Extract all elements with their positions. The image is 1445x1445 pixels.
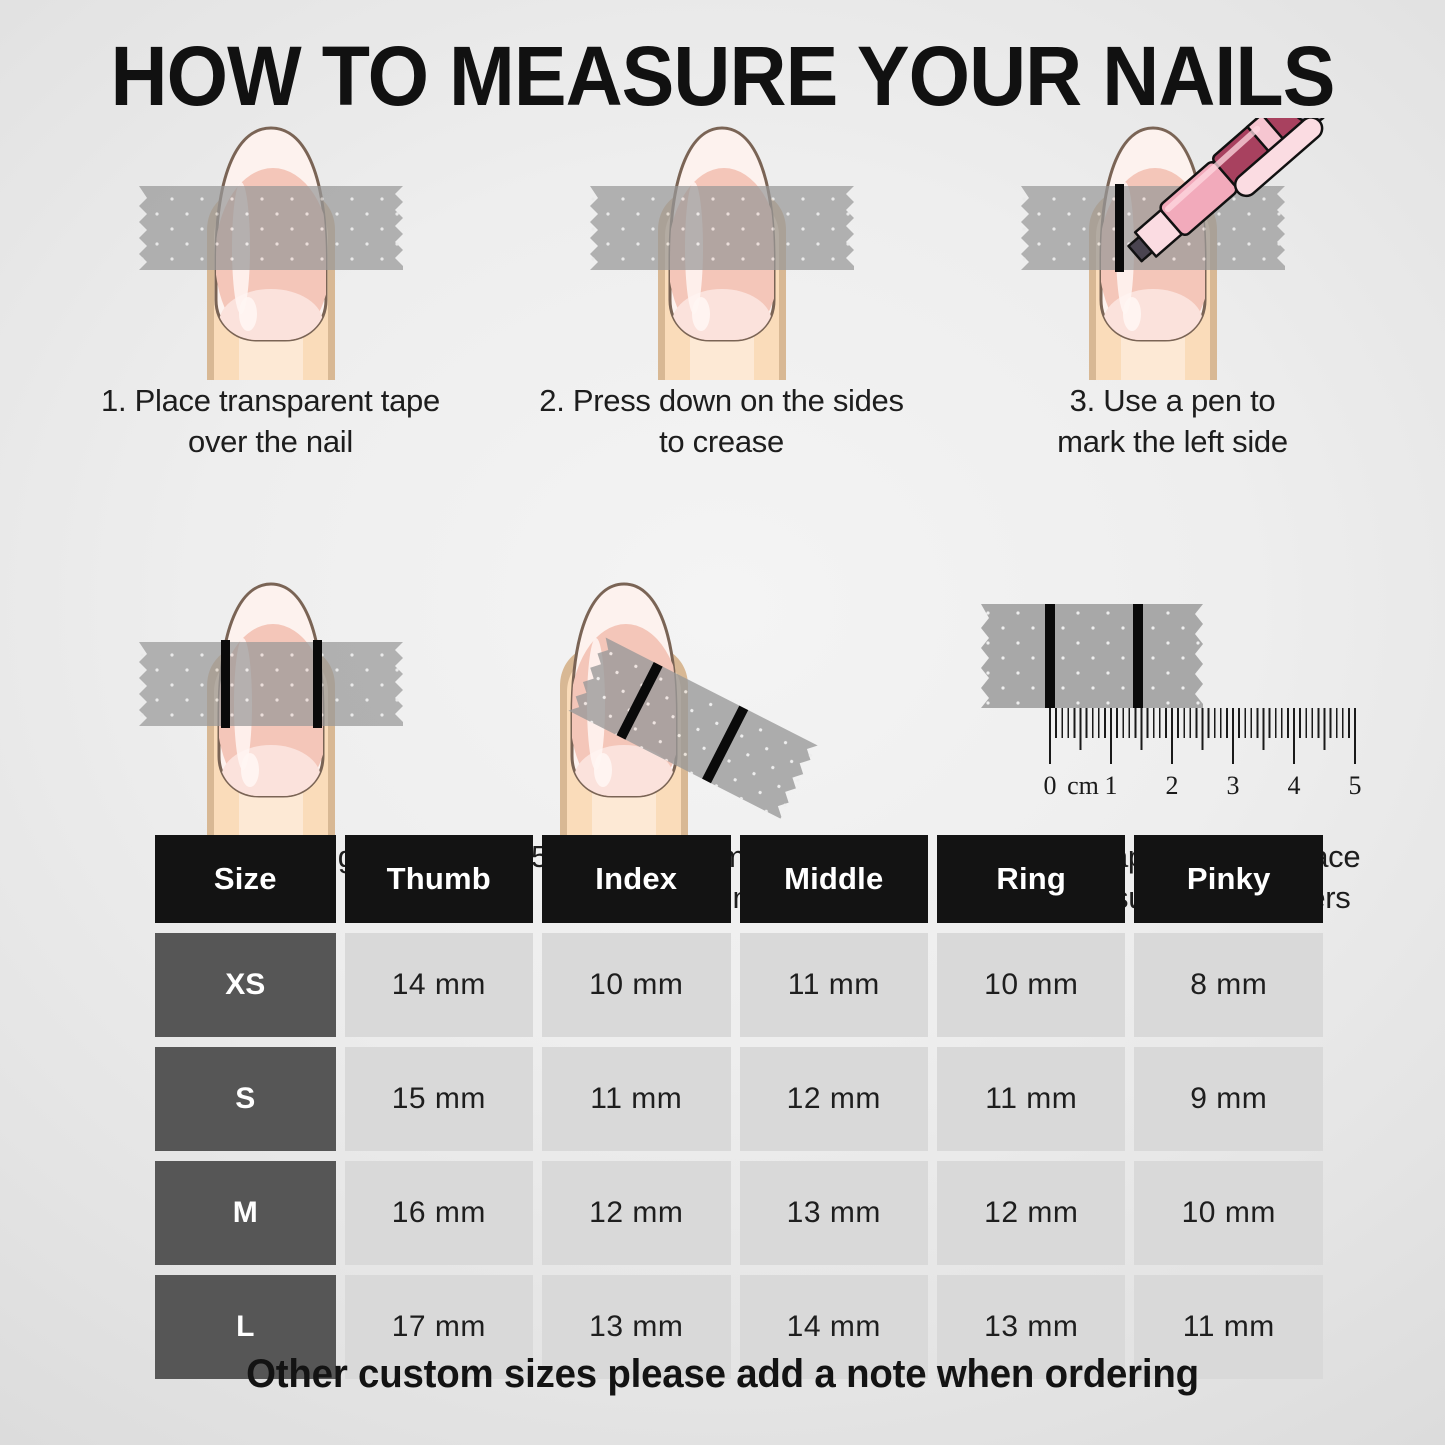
transparent-tape xyxy=(590,186,854,270)
step-2-figure xyxy=(496,118,947,380)
step-2-caption-line1: 2. Press down on the sides xyxy=(508,380,935,421)
table-row: XS 14 mm 10 mm 11 mm 10 mm 8 mm xyxy=(155,933,1323,1037)
cell-s-pinky: 9 mm xyxy=(1134,1047,1322,1151)
steps-section: 1. Place transparent tape over the nail xyxy=(45,118,1400,918)
finger-tape-peeled-illustration xyxy=(504,574,884,836)
step-1-caption: 1. Place transparent tape over the nail xyxy=(45,380,496,462)
size-chart-table: Size Thumb Index Middle Ring Pinky XS 14… xyxy=(155,835,1323,1389)
table-header-index: Index xyxy=(542,835,730,923)
tape-mark-left xyxy=(1045,604,1055,708)
cell-xs-ring: 10 mm xyxy=(937,933,1125,1037)
footer-note: Other custom sizes please add a note whe… xyxy=(29,1352,1416,1397)
table-header-thumb: Thumb xyxy=(345,835,533,923)
table-header-pinky: Pinky xyxy=(1134,835,1322,923)
step-1-caption-line1: 1. Place transparent tape xyxy=(57,380,484,421)
step-3-figure xyxy=(947,118,1398,380)
cell-m-ring: 12 mm xyxy=(937,1161,1125,1265)
ruler-tick-3: 3 xyxy=(1226,771,1239,800)
pen-mark-left xyxy=(221,640,230,728)
ruler-tick-0: 0 xyxy=(1043,771,1056,800)
cell-s-middle: 12 mm xyxy=(740,1047,928,1151)
step-6-figure: 0 cm 1 2 3 4 5 xyxy=(947,574,1398,836)
measured-tape xyxy=(981,604,1203,708)
finger-tape-creased-illustration xyxy=(572,118,872,380)
transparent-tape xyxy=(139,186,403,270)
cell-m-middle: 13 mm xyxy=(740,1161,928,1265)
ruler-tick-1: 1 xyxy=(1104,771,1117,800)
step-5-figure xyxy=(496,574,947,836)
step-4-figure xyxy=(45,574,496,836)
cell-xs-pinky: 8 mm xyxy=(1134,933,1322,1037)
ruler-tick-4: 4 xyxy=(1287,771,1300,800)
nail-highlight-dot xyxy=(241,753,259,787)
ruler-labels: 0 cm 1 2 3 4 5 xyxy=(1043,771,1361,800)
step-3: 3. Use a pen to mark the left side xyxy=(947,118,1398,462)
cell-s-ring: 11 mm xyxy=(937,1047,1125,1151)
step-3-caption-line2: mark the left side xyxy=(959,421,1386,462)
finger-tape-two-marks-illustration xyxy=(121,574,421,836)
finger-tape-pen-illustration xyxy=(1003,118,1343,380)
page-title: HOW TO MEASURE YOUR NAILS xyxy=(43,28,1401,125)
step-2-caption-line2: to crease xyxy=(508,421,935,462)
step-3-caption-line1: 3. Use a pen to xyxy=(959,380,1386,421)
nail-highlight-dot xyxy=(1123,297,1141,331)
infographic-root: HOW TO MEASURE YOUR NAILS xyxy=(0,0,1445,1445)
cell-xs-middle: 11 mm xyxy=(740,933,928,1037)
cell-m-pinky: 10 mm xyxy=(1134,1161,1322,1265)
table-row: M 16 mm 12 mm 13 mm 12 mm 10 mm xyxy=(155,1161,1323,1265)
finger-tape-plain-illustration xyxy=(121,118,421,380)
tape-mark-right xyxy=(1133,604,1143,708)
steps-row-top: 1. Place transparent tape over the nail xyxy=(45,118,1400,462)
cell-m-thumb: 16 mm xyxy=(345,1161,533,1265)
ruler-unit-label: cm xyxy=(1067,771,1099,800)
step-3-caption: 3. Use a pen to mark the left side xyxy=(947,380,1398,462)
size-label-s: S xyxy=(155,1047,336,1151)
table-row: S 15 mm 11 mm 12 mm 11 mm 9 mm xyxy=(155,1047,1323,1151)
cell-s-thumb: 15 mm xyxy=(345,1047,533,1151)
cell-xs-index: 10 mm xyxy=(542,933,730,1037)
table-header-size: Size xyxy=(155,835,336,923)
cell-m-index: 12 mm xyxy=(542,1161,730,1265)
table-header-ring: Ring xyxy=(937,835,1125,923)
size-label-xs: XS xyxy=(155,933,336,1037)
step-2-caption: 2. Press down on the sides to crease xyxy=(496,380,947,462)
cell-s-index: 11 mm xyxy=(542,1047,730,1151)
step-1: 1. Place transparent tape over the nail xyxy=(45,118,496,462)
table-header-row: Size Thumb Index Middle Ring Pinky xyxy=(155,835,1323,923)
cell-xs-thumb: 14 mm xyxy=(345,933,533,1037)
step-1-figure xyxy=(45,118,496,380)
size-label-m: M xyxy=(155,1161,336,1265)
step-2: 2. Press down on the sides to crease xyxy=(496,118,947,462)
ruler xyxy=(1050,708,1355,764)
nail-highlight-dot xyxy=(239,297,257,331)
nail-highlight-dot xyxy=(692,297,710,331)
pen-mark-right xyxy=(313,640,322,728)
step-1-caption-line2: over the nail xyxy=(57,421,484,462)
ruler-tick-2: 2 xyxy=(1165,771,1178,800)
pen-mark-left xyxy=(1115,184,1124,272)
tape-on-ruler-illustration: 0 cm 1 2 3 4 5 xyxy=(967,592,1397,854)
ruler-tick-5: 5 xyxy=(1348,771,1361,800)
nail-highlight-dot xyxy=(594,753,612,787)
table-header-middle: Middle xyxy=(740,835,928,923)
transparent-tape xyxy=(139,642,403,726)
